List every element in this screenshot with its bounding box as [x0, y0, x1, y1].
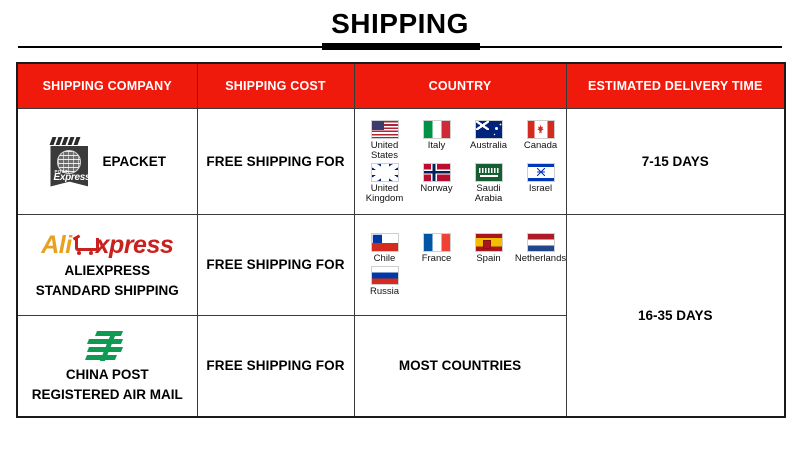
post-express-logo: POST Express	[48, 137, 90, 187]
flag-label: Norway	[420, 184, 452, 194]
flag-label: Chile	[374, 254, 396, 264]
flag-grid: Chile France Spain Netherlands	[355, 233, 566, 297]
flag-label: Saudi Arabia	[465, 184, 513, 204]
most-countries-text: MOST COUNTRIES	[399, 358, 521, 373]
shipping-table-container: SHIPPING COMPANY SHIPPING COST COUNTRY E…	[16, 62, 784, 418]
cost-text: FREE SHIPPING FOR	[206, 257, 344, 272]
logo-express-text: Express	[53, 172, 90, 183]
shopping-cart-icon	[73, 235, 95, 255]
flag-item-chile: Chile	[361, 233, 409, 264]
page-header: SHIPPING	[0, 0, 800, 62]
flag-item-united-kingdom: United Kingdom	[361, 163, 409, 204]
delivery-time-text: 7-15 DAYS	[642, 154, 709, 169]
flag-icon-sa	[475, 163, 503, 182]
company-cell-china-post: CHINA POST REGISTERED AIR MAIL	[17, 316, 197, 418]
flag-item-canada: Canada	[517, 120, 565, 161]
flag-item-israel: Israel	[517, 163, 565, 204]
flag-icon-no	[423, 163, 451, 182]
title-rule-thick	[322, 43, 480, 50]
flag-label: Australia	[470, 141, 507, 151]
delivery-time-text: 16-35 DAYS	[638, 308, 713, 323]
flag-item-france: France	[413, 233, 461, 264]
aliexpress-logo: Ali xpress	[41, 231, 173, 259]
flag-label: United States	[361, 141, 409, 161]
company-name-aliexpress-line1: ALIEXPRESS	[64, 262, 150, 279]
country-cell-china-post: MOST COUNTRIES	[354, 316, 566, 418]
flag-icon-it	[423, 120, 451, 139]
flag-label: Spain	[476, 254, 500, 264]
company-cell-aliexpress: Ali xpress ALIEXPRESS STANDARD SHIPPING	[17, 215, 197, 316]
company-name-china-post-line1: CHINA POST	[66, 366, 149, 383]
flag-item-australia: Australia	[465, 120, 513, 161]
table-row: POST Express EPACKET FREE SHIPPING FOR	[17, 109, 785, 215]
company-cell-epacket: POST Express EPACKET	[17, 109, 197, 215]
china-post-logo	[84, 329, 130, 363]
flag-item-norway: Norway	[413, 163, 461, 204]
flag-icon-gb	[371, 163, 399, 182]
header-estimated-delivery-time: ESTIMATED DELIVERY TIME	[566, 63, 785, 109]
delivery-time-cell-merged: 16-35 DAYS	[566, 215, 785, 418]
flag-label: Italy	[428, 141, 445, 151]
flag-label: Canada	[524, 141, 557, 151]
company-name-china-post-line2: REGISTERED AIR MAIL	[32, 386, 183, 403]
flag-label: Israel	[529, 184, 552, 194]
flag-icon-us	[371, 120, 399, 139]
logo-shield: POST Express	[50, 146, 88, 187]
table-body: POST Express EPACKET FREE SHIPPING FOR	[17, 109, 785, 418]
cost-text: FREE SHIPPING FOR	[206, 358, 344, 373]
cost-text: FREE SHIPPING FOR	[206, 154, 344, 169]
flag-label: France	[422, 254, 452, 264]
header-shipping-cost: SHIPPING COST	[197, 63, 354, 109]
company-name-aliexpress-line2: STANDARD SHIPPING	[36, 282, 179, 299]
cost-cell-epacket: FREE SHIPPING FOR	[197, 109, 354, 215]
flag-icon-es	[475, 233, 503, 252]
logo-ali-text: Ali	[41, 231, 71, 259]
logo-xpress-text: xpress	[96, 231, 174, 259]
company-name-epacket: EPACKET	[102, 153, 166, 170]
cost-cell-aliexpress: FREE SHIPPING FOR	[197, 215, 354, 316]
flag-icon-il	[527, 163, 555, 182]
flag-item-united-states: United States	[361, 120, 409, 161]
flag-item-saudi-arabia: Saudi Arabia	[465, 163, 513, 204]
shipping-table: SHIPPING COMPANY SHIPPING COST COUNTRY E…	[16, 62, 786, 418]
page-title: SHIPPING	[0, 8, 800, 40]
flag-icon-au	[475, 120, 503, 139]
delivery-time-cell-epacket: 7-15 DAYS	[566, 109, 785, 215]
flag-icon-nl	[527, 233, 555, 252]
flag-icon-fr	[423, 233, 451, 252]
table-header: SHIPPING COMPANY SHIPPING COST COUNTRY E…	[17, 63, 785, 109]
flag-icon-cl	[371, 233, 399, 252]
flag-item-russia: Russia	[361, 266, 409, 297]
logo-dashes	[51, 137, 87, 145]
flag-grid: United States Italy Australia Canad	[355, 120, 566, 204]
table-row: Ali xpress ALIEXPRESS STANDARD SHIPPING …	[17, 215, 785, 316]
flag-item-italy: Italy	[413, 120, 461, 161]
header-country: COUNTRY	[354, 63, 566, 109]
flag-item-netherlands: Netherlands	[517, 233, 565, 264]
flag-icon-ru	[371, 266, 399, 285]
header-row: SHIPPING COMPANY SHIPPING COST COUNTRY E…	[17, 63, 785, 109]
flag-label: Russia	[370, 287, 399, 297]
cost-cell-china-post: FREE SHIPPING FOR	[197, 316, 354, 418]
flag-item-spain: Spain	[465, 233, 513, 264]
flag-label: United Kingdom	[361, 184, 409, 204]
flag-icon-ca	[527, 120, 555, 139]
country-cell-epacket: United States Italy Australia Canad	[354, 109, 566, 215]
flag-label: Netherlands	[515, 254, 566, 264]
country-cell-aliexpress: Chile France Spain Netherlands	[354, 215, 566, 316]
header-shipping-company: SHIPPING COMPANY	[17, 63, 197, 109]
